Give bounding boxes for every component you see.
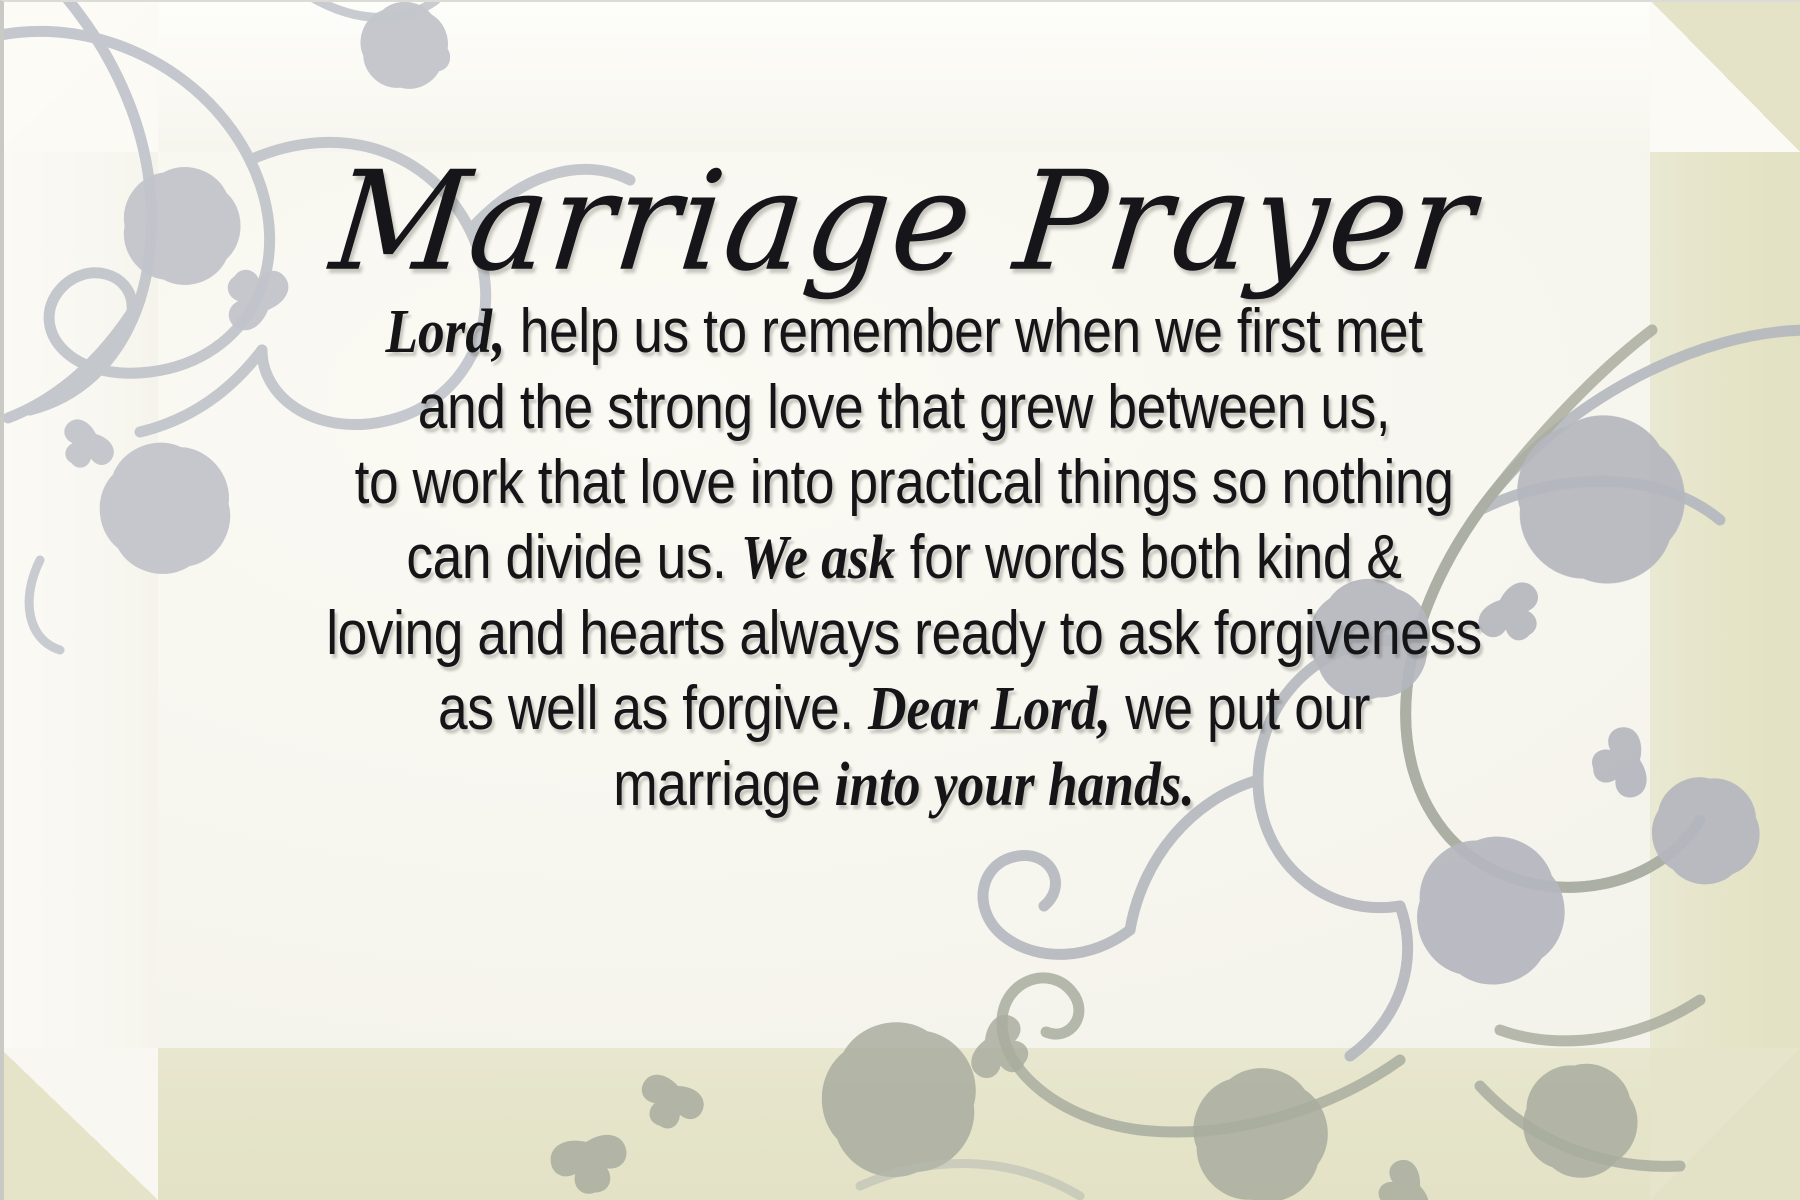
prayer-body: Lord, help us to remember when we first … [158,294,1650,823]
frame-corner-top-right [1650,0,1800,152]
frame-corner-top-left [0,0,158,152]
prayer-text: can divide us. [406,523,740,592]
prayer-emphasis: Lord, [385,298,505,366]
frame-bevel-top [0,0,1800,152]
prayer-line: and the strong love that grew between us… [262,370,1545,445]
prayer-line: can divide us. We ask for words both kin… [262,520,1545,596]
frame-corner-bottom-right [1650,1048,1800,1200]
prayer-emphasis: We ask [741,524,896,592]
frame-bevel-bottom [0,1048,1800,1200]
prayer-text: help us to remember when we first met [505,297,1422,366]
prayer-text: loving and hearts always ready to ask fo… [326,599,1482,668]
prayer-line: loving and hearts always ready to ask fo… [262,596,1545,671]
prayer-line: to work that love into practical things … [262,445,1545,520]
prayer-text: and the strong love that grew between us… [418,373,1390,442]
prayer-emphasis: Dear Lord, [868,675,1111,743]
prayer-line: Lord, help us to remember when we first … [262,294,1545,370]
page-title: Marriage Prayer [326,153,1482,290]
prayer-text: to work that love into practical things … [355,448,1454,517]
marriage-prayer-plaque: Marriage Prayer Lord, help us to remembe… [0,0,1800,1200]
prayer-text: for words both kind & [895,523,1401,592]
frame-bevel-left [0,0,158,1200]
prayer-text-layer: Marriage Prayer Lord, help us to remembe… [158,152,1650,1048]
prayer-text: as well as forgive. [438,674,868,743]
prayer-text: marriage [613,750,834,819]
prayer-line: marriage into your hands. [262,747,1545,823]
frame-corner-bottom-left [0,1048,158,1200]
prayer-line: as well as forgive. Dear Lord, we put ou… [262,671,1545,747]
frame-bevel-right [1650,0,1800,1200]
prayer-text: we put our [1111,674,1370,743]
prayer-emphasis: into your hands. [835,751,1195,819]
